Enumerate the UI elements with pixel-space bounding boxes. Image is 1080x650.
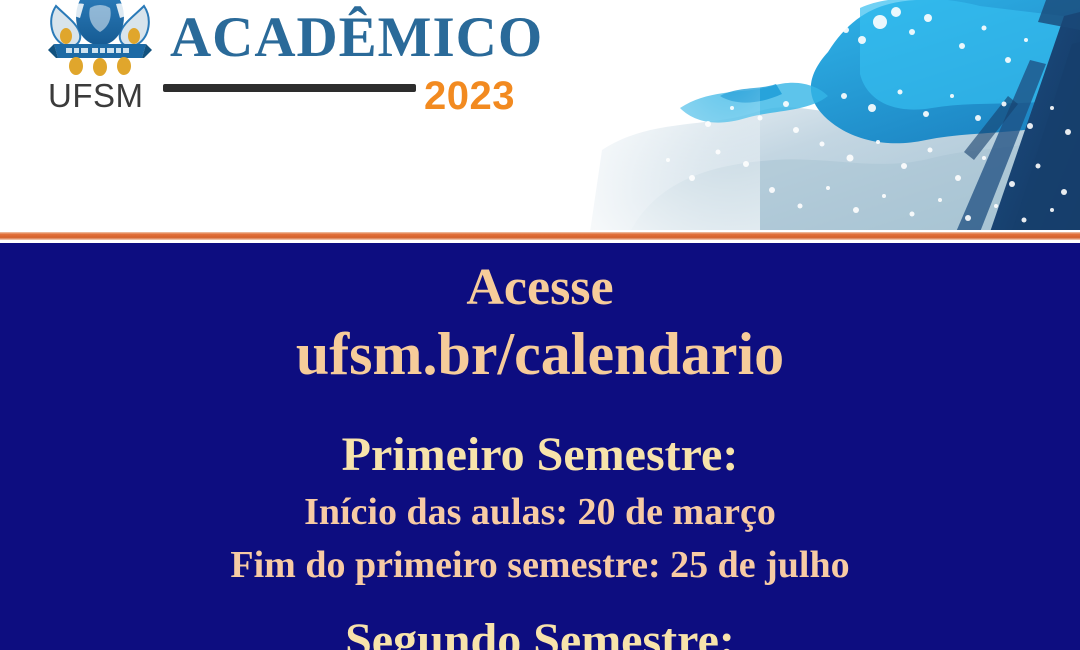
page-title: ACADÊMICO xyxy=(170,9,543,66)
first-semester-start-date: Início das aulas: 20 de março xyxy=(0,492,1080,534)
ufsm-brand-lockup: UFSM ACADÊMICO 2023 xyxy=(0,0,600,232)
ufsm-crest-icon xyxy=(46,0,154,76)
first-semester-heading: Primeiro Semestre: xyxy=(0,429,1080,482)
ufsm-acronym: UFSM xyxy=(48,79,144,112)
section-divider xyxy=(0,230,1080,243)
year-label: 2023 xyxy=(424,76,515,116)
divider-orange-bar xyxy=(0,232,1080,240)
call-to-action-label: Acesse xyxy=(0,259,1080,316)
second-semester-heading: Segundo Semestre: xyxy=(0,615,1080,650)
first-semester-end-date: Fim do primeiro semestre: 25 de julho xyxy=(0,545,1080,587)
title-rule xyxy=(163,84,416,92)
calendar-url[interactable]: ufsm.br/calendario xyxy=(0,321,1080,387)
poster-body: Acesse ufsm.br/calendario Primeiro Semes… xyxy=(0,243,1080,650)
blue-watercolor-splash-icon xyxy=(560,0,1080,232)
poster-header: UFSM ACADÊMICO 2023 xyxy=(0,0,1080,232)
calendar-poster: UFSM ACADÊMICO 2023 Acesse ufsm.br/calen… xyxy=(0,0,1080,650)
